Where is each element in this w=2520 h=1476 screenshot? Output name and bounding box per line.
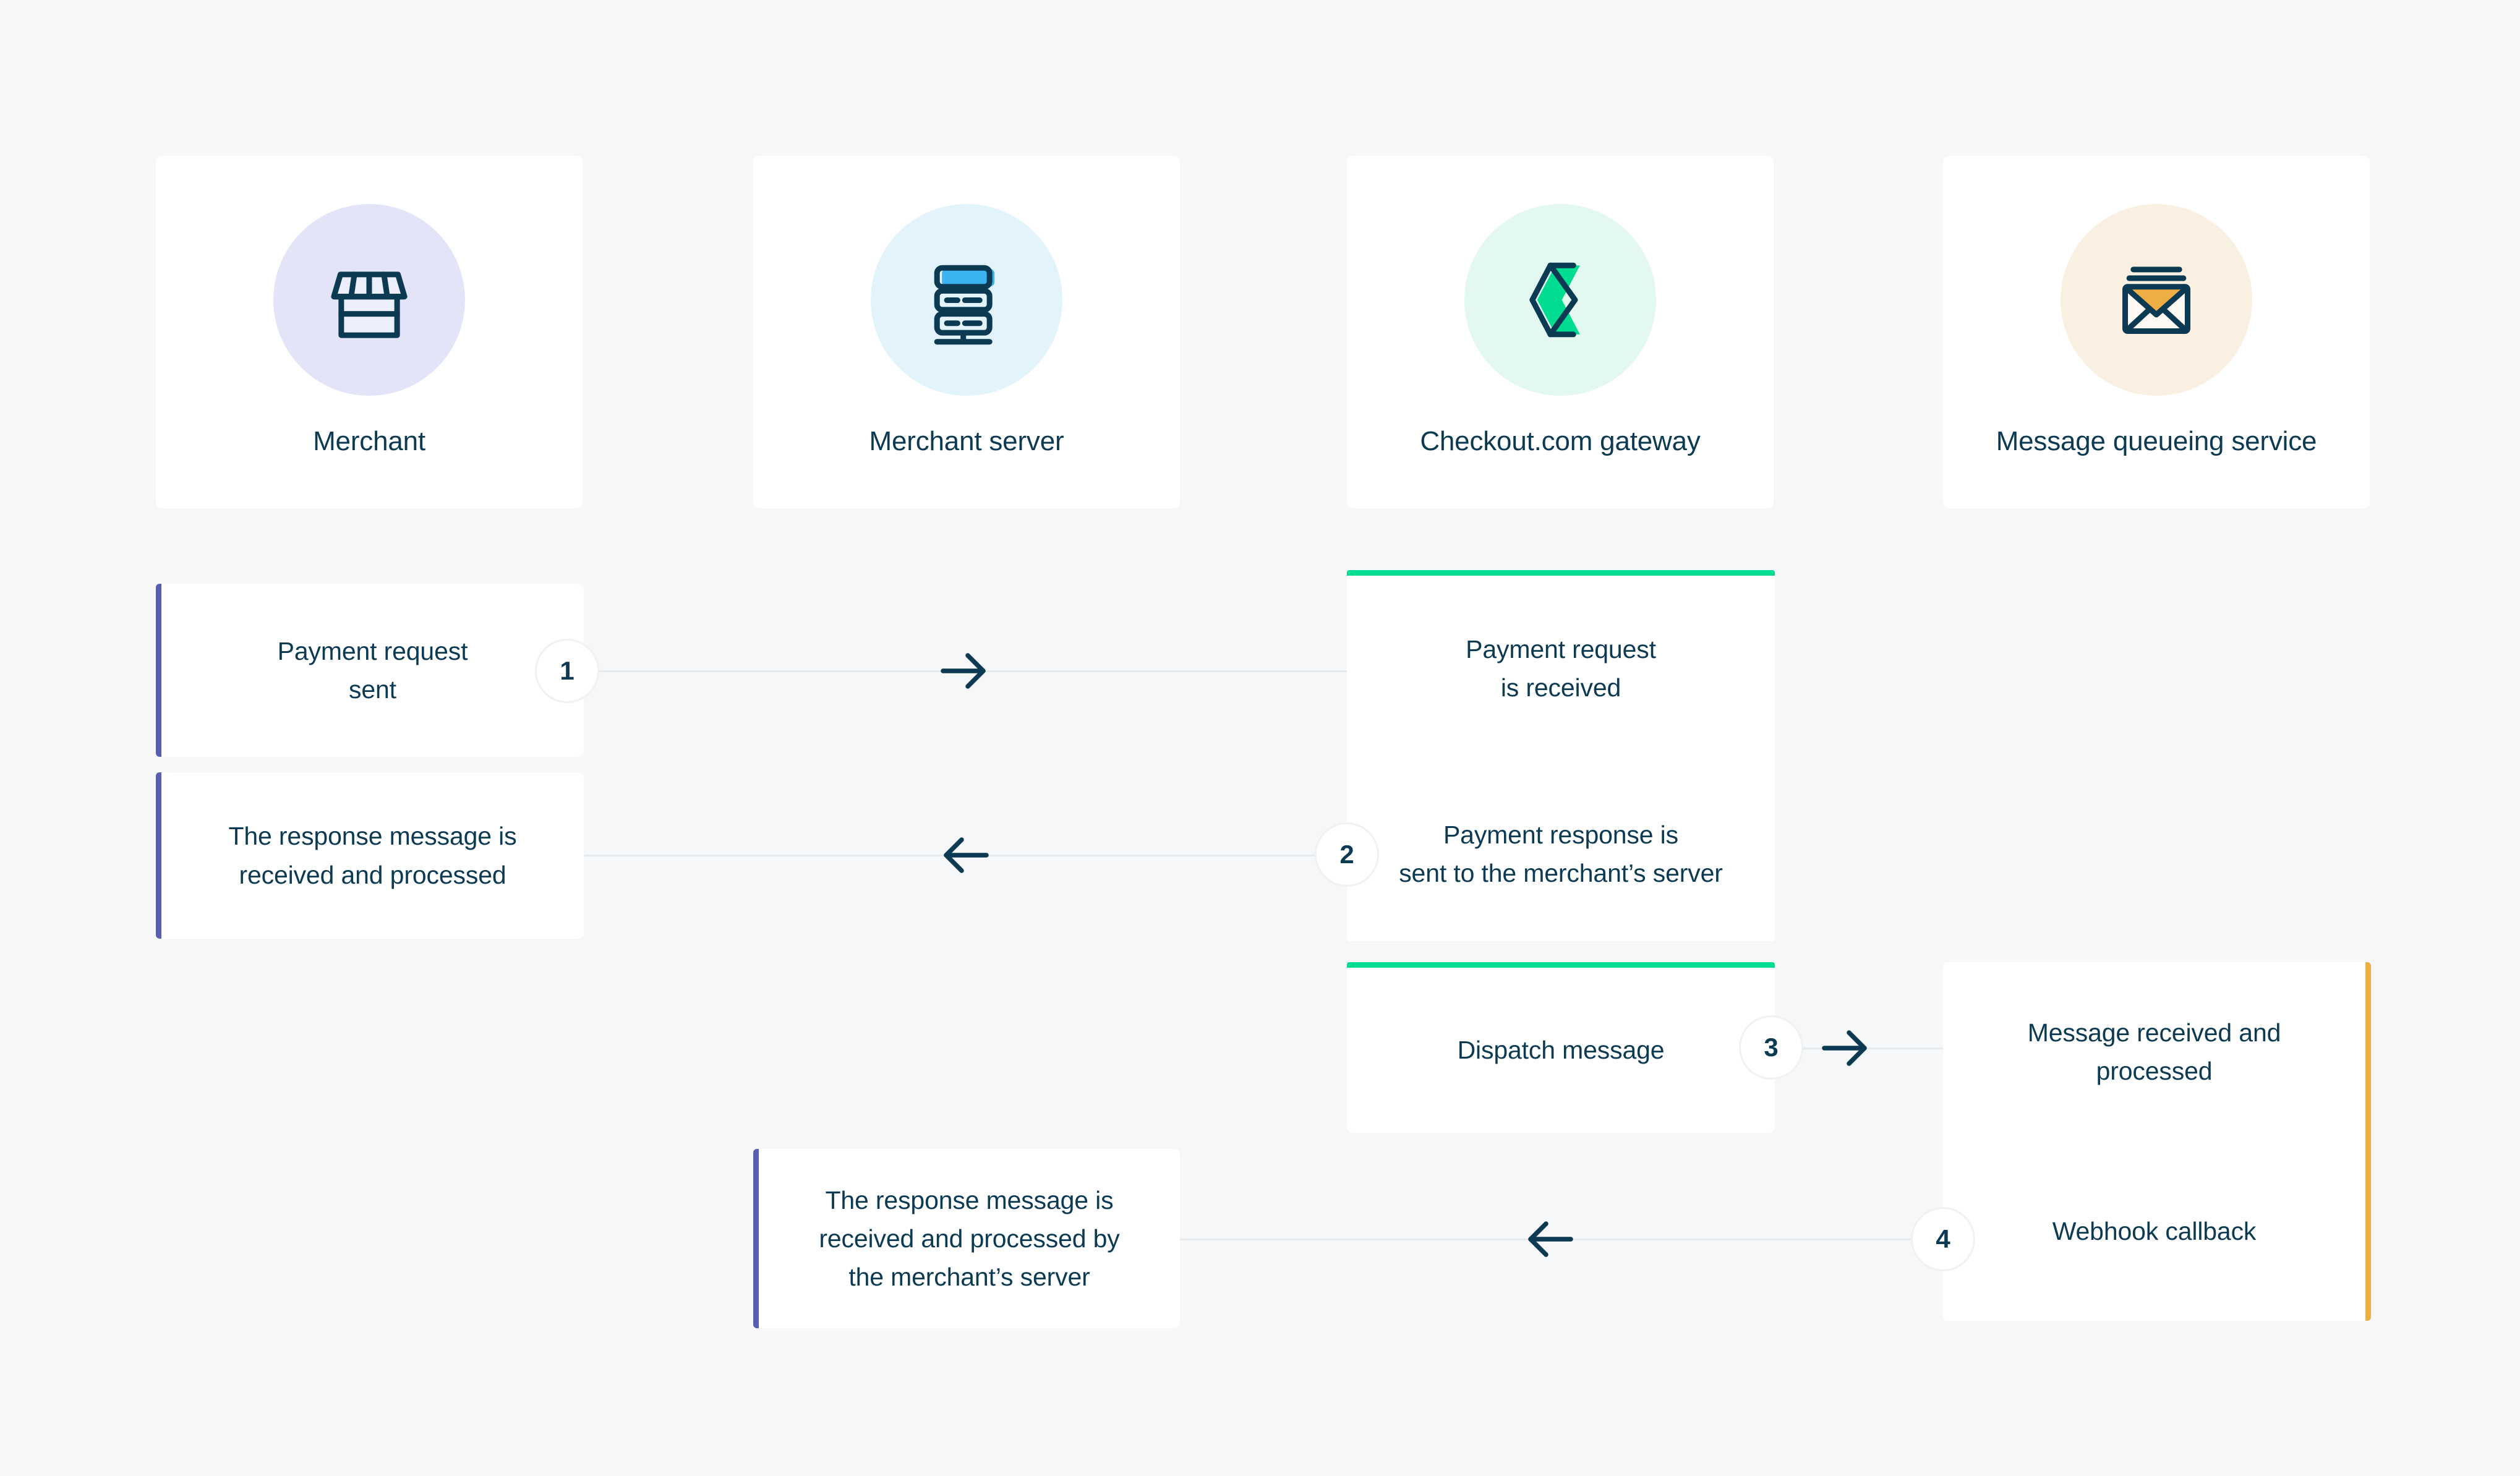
actor-badge-message-queue: [2061, 204, 2252, 396]
actor-card-merchant-server: Merchant server: [753, 156, 1180, 508]
arrow-left-step-4: [1515, 1205, 1583, 1273]
step-number-2-label: 2: [1339, 840, 1354, 869]
step-1-target-text: Payment requestis received: [1443, 630, 1678, 707]
gateway-step-card-upper: Payment requestis received Payment respo…: [1347, 570, 1775, 941]
actor-label-merchant: Merchant: [313, 424, 425, 458]
step-number-2: 2: [1315, 822, 1379, 887]
step-number-4-label: 4: [1936, 1224, 1950, 1254]
envelope-stack-icon: [2104, 247, 2209, 352]
actor-label-merchant-server: Merchant server: [869, 424, 1064, 458]
step-4-source-card: Webhook callback: [1943, 1141, 2365, 1321]
step-1-source-card: Payment requestsent: [156, 584, 584, 757]
step-2-source-card: Payment response issent to the merchant’…: [1347, 761, 1775, 947]
step-4-source-text: Webhook callback: [2030, 1212, 2279, 1250]
actor-card-merchant: Merchant: [156, 156, 583, 508]
storefront-icon: [317, 247, 422, 352]
actor-badge-merchant: [273, 204, 465, 396]
step-2-target-card: The response message isreceived and proc…: [156, 772, 584, 939]
step-3-target-text: Message received andprocessed: [2005, 1013, 2304, 1091]
arrow-right-step-3: [1812, 1014, 1880, 1082]
server-rack-icon: [914, 247, 1019, 352]
arrow-left-step-2: [931, 821, 999, 889]
step-2-target-text: The response message isreceived and proc…: [206, 817, 539, 894]
step-number-1-label: 1: [560, 656, 574, 686]
step-number-3: 3: [1739, 1015, 1803, 1080]
step-number-4: 4: [1911, 1207, 1975, 1271]
step-4-target-text: The response message isreceived and proc…: [797, 1181, 1142, 1297]
step-number-3-label: 3: [1764, 1033, 1778, 1062]
step-3-target-card: Message received andprocessed: [1943, 962, 2365, 1141]
arrow-right-step-1: [931, 637, 999, 705]
actor-label-message-queue: Message queueing service: [1996, 424, 2317, 458]
step-3-source-text: Dispatch message: [1435, 1031, 1687, 1069]
checkout-logo-icon: [1508, 247, 1613, 352]
step-1-target-card: Payment requestis received: [1347, 576, 1775, 761]
step-3-source-card: Dispatch message: [1347, 962, 1775, 1133]
actor-badge-merchant-server: [871, 204, 1062, 396]
actor-badge-checkout-gateway: [1464, 204, 1656, 396]
step-2-source-text: Payment response issent to the merchant’…: [1377, 816, 1745, 893]
actor-card-checkout-gateway: Checkout.com gateway: [1347, 156, 1774, 508]
step-number-1: 1: [535, 639, 599, 703]
actor-label-checkout-gateway: Checkout.com gateway: [1420, 424, 1700, 458]
step-1-source-text: Payment requestsent: [255, 632, 490, 709]
diagram-canvas: Merchant: [0, 0, 2520, 1476]
step-4-target-card: The response message isreceived and proc…: [753, 1149, 1180, 1328]
queue-step-card: Message received andprocessed Webhook ca…: [1943, 962, 2371, 1321]
actor-card-message-queue: Message queueing service: [1943, 156, 2370, 508]
